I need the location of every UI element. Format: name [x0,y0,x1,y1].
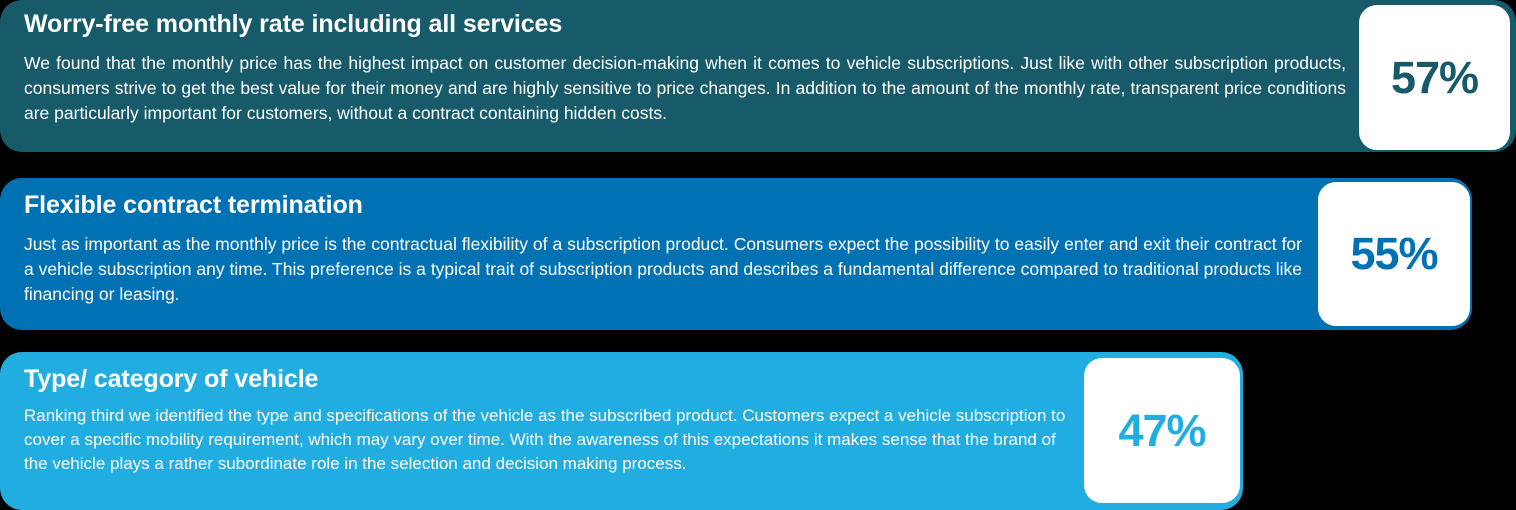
factor-band-3-percent-value: 47% [1118,405,1205,457]
ranked-factors-infographic: Worry-free monthly rate including all se… [0,0,1516,510]
factor-band-3-description: Ranking third we identified the type and… [24,404,1067,476]
factor-band-2-title: Flexible contract termination [24,190,1302,220]
factor-band-2-description: Just as important as the monthly price i… [24,232,1302,307]
factor-band-1-title: Worry-free monthly rate including all se… [24,9,1346,39]
factor-band-3-content: Type/ category of vehicle Ranking third … [24,352,1067,510]
factor-band-2-percent-value: 55% [1350,228,1437,280]
factor-band-1-percent-value: 57% [1391,52,1478,104]
factor-band-3-title: Type/ category of vehicle [24,364,1067,394]
factor-band-1-percent-badge: 57% [1357,3,1512,152]
factor-band-1: Worry-free monthly rate including all se… [0,0,1516,152]
factor-band-2-content: Flexible contract termination Just as im… [24,178,1302,330]
factor-band-1-description: We found that the monthly price has the … [24,51,1346,126]
factor-band-1-content: Worry-free monthly rate including all se… [24,0,1346,152]
factor-band-3: Type/ category of vehicle Ranking third … [0,352,1243,510]
factor-band-2-percent-badge: 55% [1316,180,1472,328]
factor-band-3-percent-badge: 47% [1082,356,1242,505]
factor-band-2: Flexible contract termination Just as im… [0,178,1472,330]
